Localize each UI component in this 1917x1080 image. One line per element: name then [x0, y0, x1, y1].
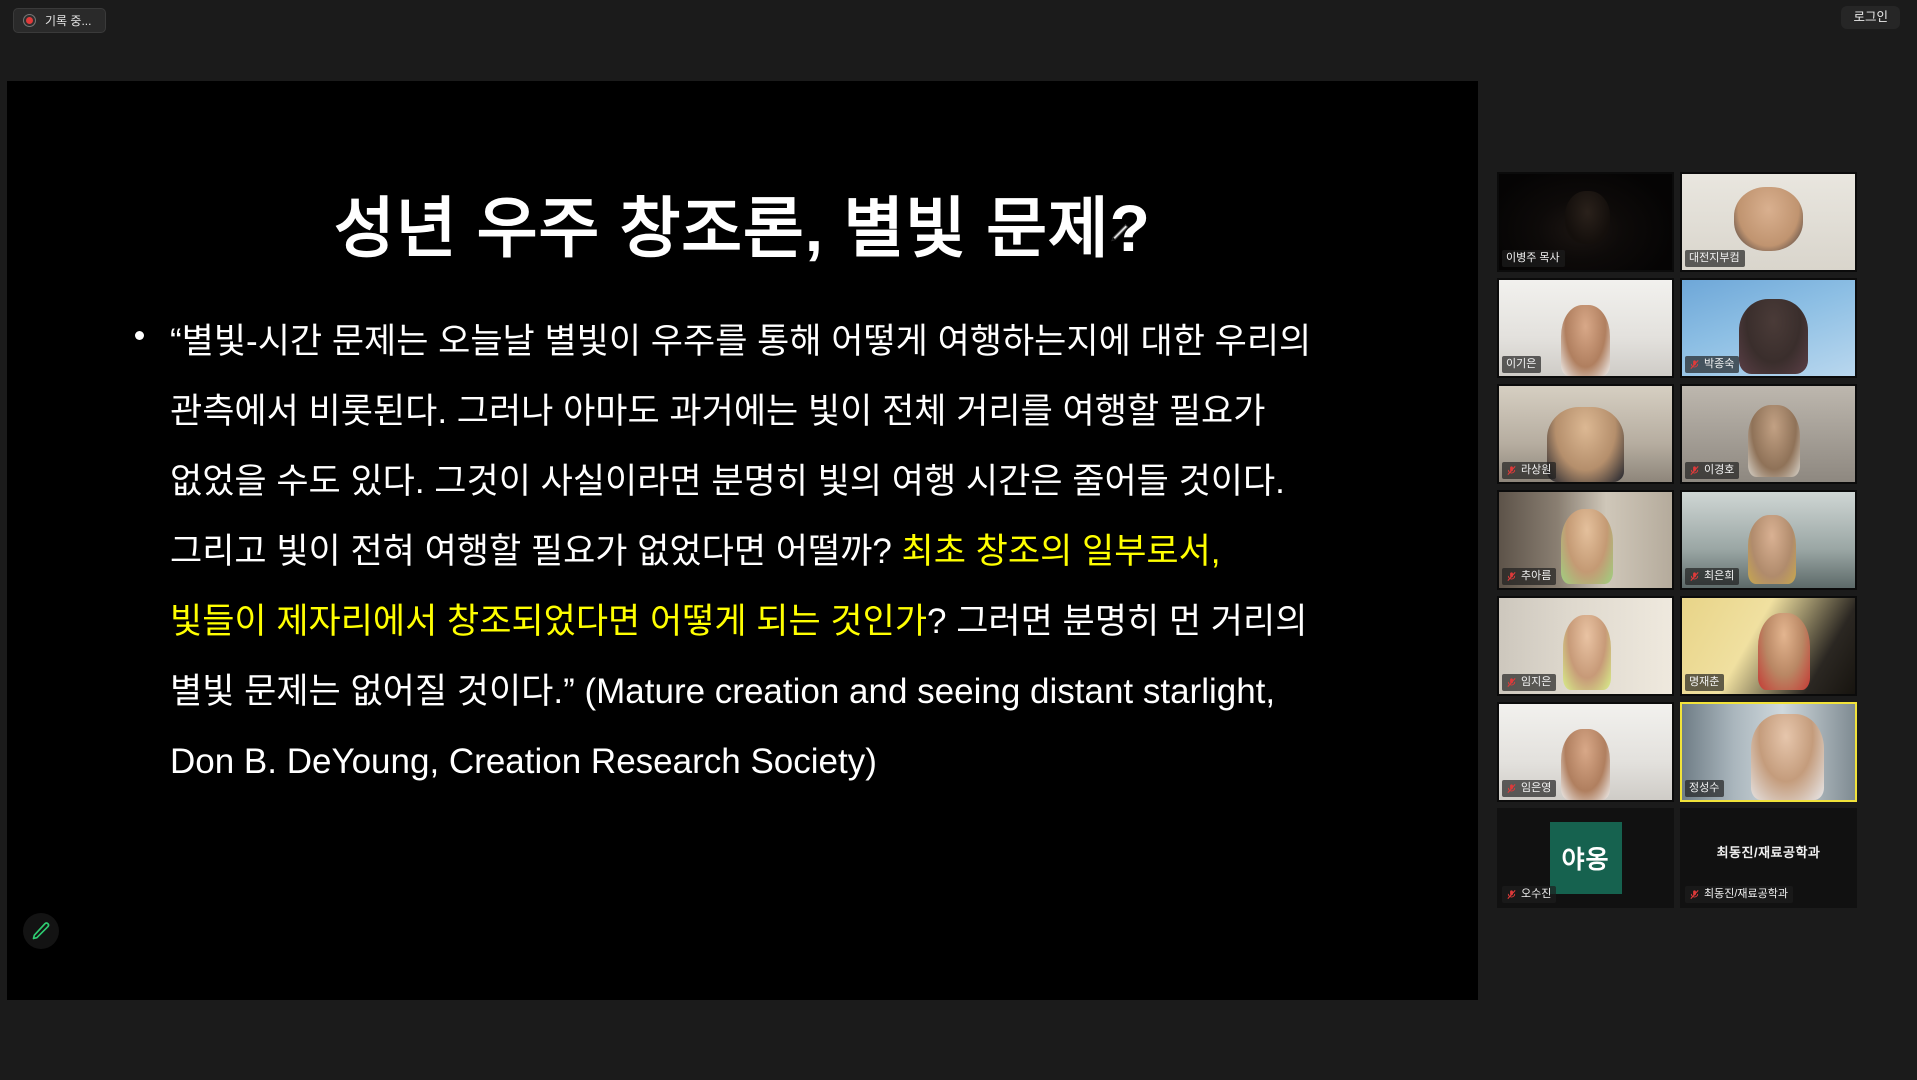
participant-name-tag: 라상원: [1502, 462, 1556, 479]
participant-tile-최동진-재료공학과[interactable]: 최동진/재료공학과 최동진/재료공학과: [1680, 808, 1857, 908]
participant-name: 정성수: [1689, 781, 1719, 795]
participant-row: 라상원 이경호: [1497, 384, 1857, 484]
participant-name-tag: 최동진/재료공학과: [1685, 886, 1793, 903]
slide-bullet-item: “별빛-시간 문제는 오늘날 별빛이 우주를 통해 어떻게 여행하는지에 대한 …: [135, 307, 1320, 797]
participant-row: 추아름 최은희: [1497, 490, 1857, 590]
participant-name: 명재춘: [1689, 675, 1719, 689]
participant-row: 임은영 정성수: [1497, 702, 1857, 802]
participant-tile-임은영[interactable]: 임은영: [1497, 702, 1674, 802]
pencil-icon: [31, 921, 51, 941]
participant-name-tag: 임은영: [1502, 780, 1556, 797]
participant-tile-임지은[interactable]: 임지은: [1497, 596, 1674, 696]
meeting-screen-share-window: 기록 중... 로그인 성년 우주 창조론, 별빛 문제? “별빛-시간 문제는…: [0, 0, 1917, 1080]
participant-tile-이경호[interactable]: 이경호: [1680, 384, 1857, 484]
participant-display-name: 최동진/재료공학과: [1682, 842, 1855, 861]
participant-tile-명재춘[interactable]: 명재춘: [1680, 596, 1857, 696]
participant-name: 최은희: [1704, 569, 1734, 583]
participant-name: 임지은: [1521, 675, 1551, 689]
participant-name-tag: 이기은: [1502, 356, 1541, 373]
participant-tile-라상원[interactable]: 라상원: [1497, 384, 1674, 484]
mic-muted-icon: [1506, 570, 1517, 583]
participant-row: 이기은 박종숙: [1497, 278, 1857, 378]
participant-name-tag: 정성수: [1685, 780, 1724, 797]
participant-name: 이경호: [1704, 463, 1734, 477]
participant-row: 이병주 목사 대전지부컴: [1497, 172, 1857, 272]
participant-name-tag: 임지은: [1502, 674, 1556, 691]
participant-name-tag: 추아름: [1502, 568, 1556, 585]
recording-label: 기록 중...: [45, 15, 91, 27]
participant-tile-이기은[interactable]: 이기은: [1497, 278, 1674, 378]
login-button[interactable]: 로그인: [1841, 6, 1900, 29]
slide-body-text: “별빛-시간 문제는 오늘날 별빛이 우주를 통해 어떻게 여행하는지에 대한 …: [170, 307, 1320, 797]
mic-muted-icon: [1689, 464, 1700, 477]
participant-tile-대전지부컴[interactable]: 대전지부컴: [1680, 172, 1857, 272]
avatar: 야옹: [1550, 822, 1622, 894]
participant-row: 야옹 오수진 최동진/재료공학과: [1497, 808, 1857, 908]
participant-name: 박종숙: [1704, 357, 1734, 371]
participant-name: 이기은: [1506, 357, 1536, 371]
top-bar: 기록 중... 로그인: [0, 0, 1917, 40]
participant-tile-박종숙[interactable]: 박종숙: [1680, 278, 1857, 378]
participant-name: 라상원: [1521, 463, 1551, 477]
participant-tile-오수진[interactable]: 야옹 오수진: [1497, 808, 1674, 908]
participant-name-tag: 박종숙: [1685, 356, 1739, 373]
participant-name: 추아름: [1521, 569, 1551, 583]
participant-tile-최은희[interactable]: 최은희: [1680, 490, 1857, 590]
mic-muted-icon: [1689, 570, 1700, 583]
participant-name: 오수진: [1521, 887, 1551, 901]
slide-title: 성년 우주 창조론, 별빛 문제?: [7, 175, 1478, 271]
participant-name-tag: 오수진: [1502, 886, 1556, 903]
shared-slide[interactable]: 성년 우주 창조론, 별빛 문제? “별빛-시간 문제는 오늘날 별빛이 우주를…: [7, 81, 1478, 1000]
participant-name: 이병주 목사: [1506, 251, 1560, 265]
bullet-point-icon: [135, 331, 144, 340]
annotate-button[interactable]: [23, 913, 59, 949]
participant-name-tag: 명재춘: [1685, 674, 1724, 691]
participant-name-tag: 대전지부컴: [1685, 250, 1745, 267]
participant-tile-정성수-active-speaker[interactable]: 정성수: [1680, 702, 1857, 802]
participant-row: 임지은 명재춘: [1497, 596, 1857, 696]
participant-grid[interactable]: 이병주 목사 대전지부컴 이기은: [1497, 172, 1857, 914]
participant-name: 최동진/재료공학과: [1704, 887, 1788, 901]
participant-tile-추아름[interactable]: 추아름: [1497, 490, 1674, 590]
mic-muted-icon: [1506, 782, 1517, 795]
recording-indicator[interactable]: 기록 중...: [13, 8, 106, 33]
mic-muted-icon: [1506, 888, 1517, 901]
participant-name-tag: 이병주 목사: [1502, 250, 1565, 267]
participant-name: 임은영: [1521, 781, 1551, 795]
mic-muted-icon: [1506, 464, 1517, 477]
participant-name-tag: 최은희: [1685, 568, 1739, 585]
mic-muted-icon: [1689, 358, 1700, 371]
mic-muted-icon: [1689, 888, 1700, 901]
mic-muted-icon: [1506, 676, 1517, 689]
participant-name-tag: 이경호: [1685, 462, 1739, 479]
participant-name: 대전지부컴: [1689, 251, 1740, 265]
participant-tile-이병주-목사[interactable]: 이병주 목사: [1497, 172, 1674, 272]
record-dot-icon: [23, 14, 36, 27]
